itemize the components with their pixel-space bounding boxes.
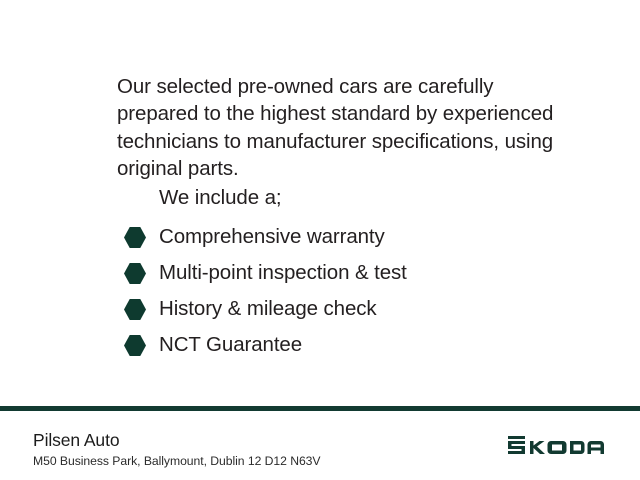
include-heading: We include a; [159,184,282,211]
list-item-label: Multi-point inspection & test [159,258,407,288]
list-item: History & mileage check [0,294,640,330]
hexagon-bullet-icon [124,263,146,284]
hexagon-bullet-icon [124,299,146,320]
benefits-list: Comprehensive warranty Multi-point inspe… [0,222,640,366]
intro-paragraph: Our selected pre-owned cars are carefull… [117,73,557,183]
hexagon-bullet-icon [124,227,146,248]
list-item-label: History & mileage check [159,294,377,324]
skoda-wordmark-logo [507,435,607,455]
dealer-name: Pilsen Auto [33,429,321,451]
hexagon-bullet-icon [124,335,146,356]
promo-card: Our selected pre-owned cars are carefull… [0,0,640,480]
footer: Pilsen Auto M50 Business Park, Ballymoun… [0,411,640,480]
list-item-label: NCT Guarantee [159,330,302,360]
list-item: Comprehensive warranty [0,222,640,258]
dealer-address: M50 Business Park, Ballymount, Dublin 12… [33,453,321,469]
list-item: Multi-point inspection & test [0,258,640,294]
list-item-label: Comprehensive warranty [159,222,385,252]
dealer-info: Pilsen Auto M50 Business Park, Ballymoun… [33,429,321,469]
list-item: NCT Guarantee [0,330,640,366]
